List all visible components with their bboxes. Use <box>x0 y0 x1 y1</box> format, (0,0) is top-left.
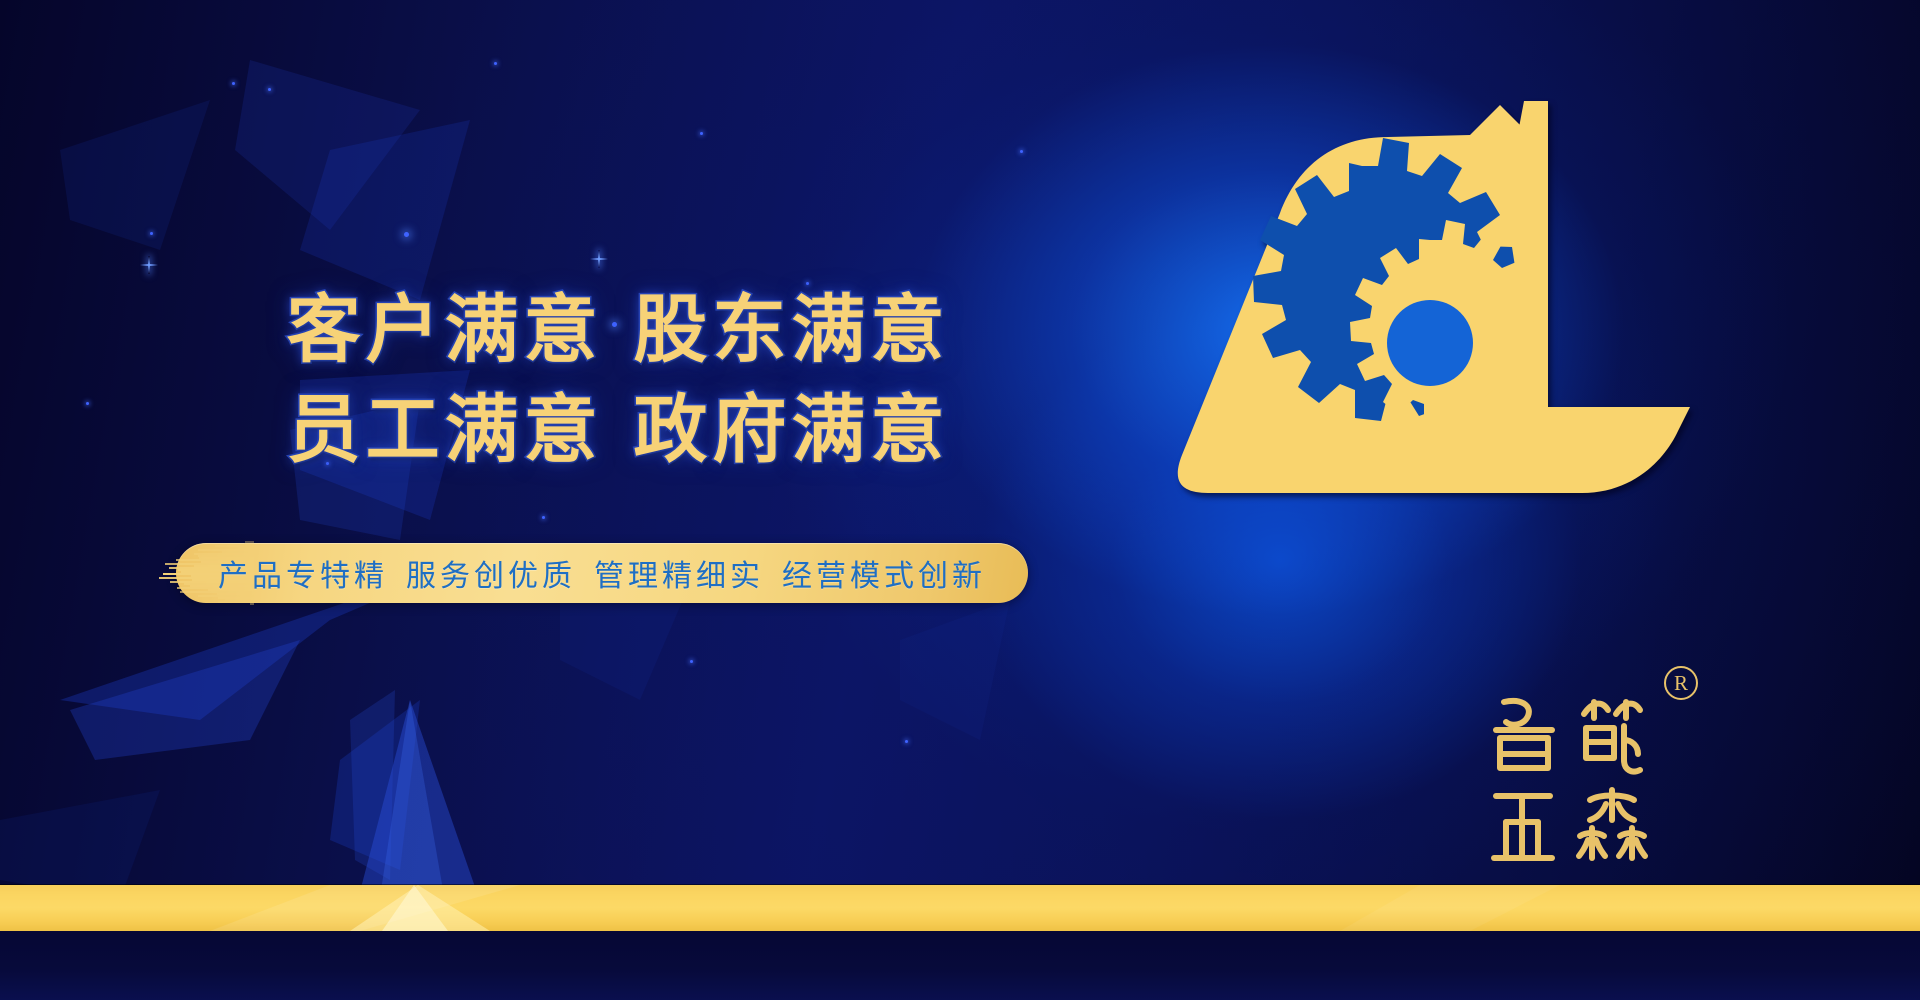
bar-light-highlight <box>290 885 530 931</box>
company-wordmark: R <box>1480 690 1670 870</box>
page-title: 客户满意 股东满意 员工满意 政府满意 <box>238 288 998 474</box>
slogan-item-2: 服务创优质 <box>397 551 585 595</box>
slogan-pill-text: 产品专特精 服务创优质 管理精细实 经营模式创新 <box>176 543 1028 603</box>
background-polygon-decor <box>0 0 1300 1000</box>
slogan-pill: 产品专特精 服务创优质 管理精细实 经营模式创新 <box>176 543 1028 603</box>
slogan-item-4: 经营模式创新 <box>773 551 995 595</box>
headline-line-2: 员工满意 政府满意 <box>238 388 998 474</box>
bottom-strip <box>0 931 1920 1000</box>
slogan-item-3: 管理精细实 <box>585 551 773 595</box>
banner-stage: 客户满意 股东满意 员工满意 政府满意 产品专特精 服务创优质 管理精细实 经营… <box>0 0 1920 1000</box>
registered-trademark-icon: R <box>1664 666 1698 700</box>
slogan-item-1: 产品专特精 <box>209 551 397 595</box>
headline-line-1: 客户满意 股东满意 <box>238 288 998 374</box>
company-logo-mark <box>1130 95 1690 495</box>
bottom-gold-bar <box>0 885 1920 931</box>
bar-sheen-decor <box>0 885 1920 931</box>
